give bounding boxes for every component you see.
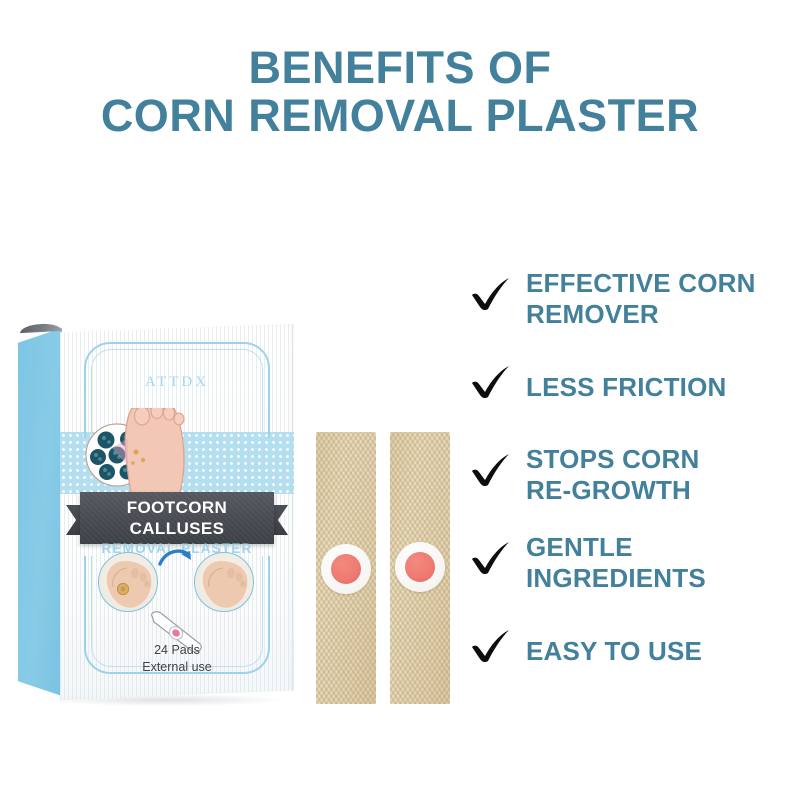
check-icon [470, 629, 526, 673]
product-package-box: ATTDX [18, 312, 294, 708]
benefit-item-5: EASY TO USE [470, 614, 800, 688]
title-line-1: BENEFITS OF [0, 44, 800, 92]
pack-info-text: 24 Pads External use [60, 642, 294, 675]
plaster-pad-ring [395, 542, 445, 592]
benefit-item-1: EFFECTIVE CORN REMOVER [470, 262, 800, 336]
benefits-list: EFFECTIVE CORN REMOVER LESS FRICTION STO… [470, 262, 800, 688]
curved-arrow-icon [158, 546, 194, 575]
box-front-face: ATTDX [60, 324, 294, 700]
ribbon-body: FOOTCORN CALLUSES REMOVAL PLASTER [80, 492, 274, 544]
before-foot-photo [98, 552, 158, 612]
benefit-item-3: STOPS CORN RE-GROWTH [470, 438, 800, 512]
plaster-strips-group [316, 432, 450, 704]
corn-plaster-strip [316, 432, 376, 704]
page-title: BENEFITS OF CORN REMOVAL PLASTER [0, 44, 800, 139]
check-icon [470, 365, 526, 409]
ribbon-title-text: FOOTCORN CALLUSES [80, 497, 274, 540]
plaster-pad-center [331, 554, 361, 584]
box-left-spine [18, 328, 62, 696]
plaster-pad-ring [321, 544, 371, 594]
brand-logo-text: ATTDX [60, 374, 294, 391]
benefit-item-2: LESS FRICTION [470, 350, 800, 424]
check-icon [470, 541, 526, 585]
infographic-canvas: BENEFITS OF CORN REMOVAL PLASTER ATTDX [0, 0, 800, 800]
benefit-label: EASY TO USE [526, 636, 702, 667]
benefit-label: EFFECTIVE CORN REMOVER [526, 268, 756, 329]
benefit-label: STOPS CORN RE-GROWTH [526, 444, 699, 505]
benefit-label: GENTLE INGREDIENTS [526, 532, 706, 593]
corn-plaster-strip [390, 432, 450, 704]
box-ribbon-banner: FOOTCORN CALLUSES REMOVAL PLASTER [66, 492, 288, 544]
after-foot-photo [194, 552, 254, 612]
benefit-label: LESS FRICTION [526, 372, 727, 403]
title-line-2: CORN REMOVAL PLASTER [0, 92, 800, 140]
benefit-item-4: GENTLE INGREDIENTS [470, 526, 800, 600]
plaster-pad-center [405, 552, 435, 582]
check-icon [470, 453, 526, 497]
check-icon [470, 277, 526, 321]
